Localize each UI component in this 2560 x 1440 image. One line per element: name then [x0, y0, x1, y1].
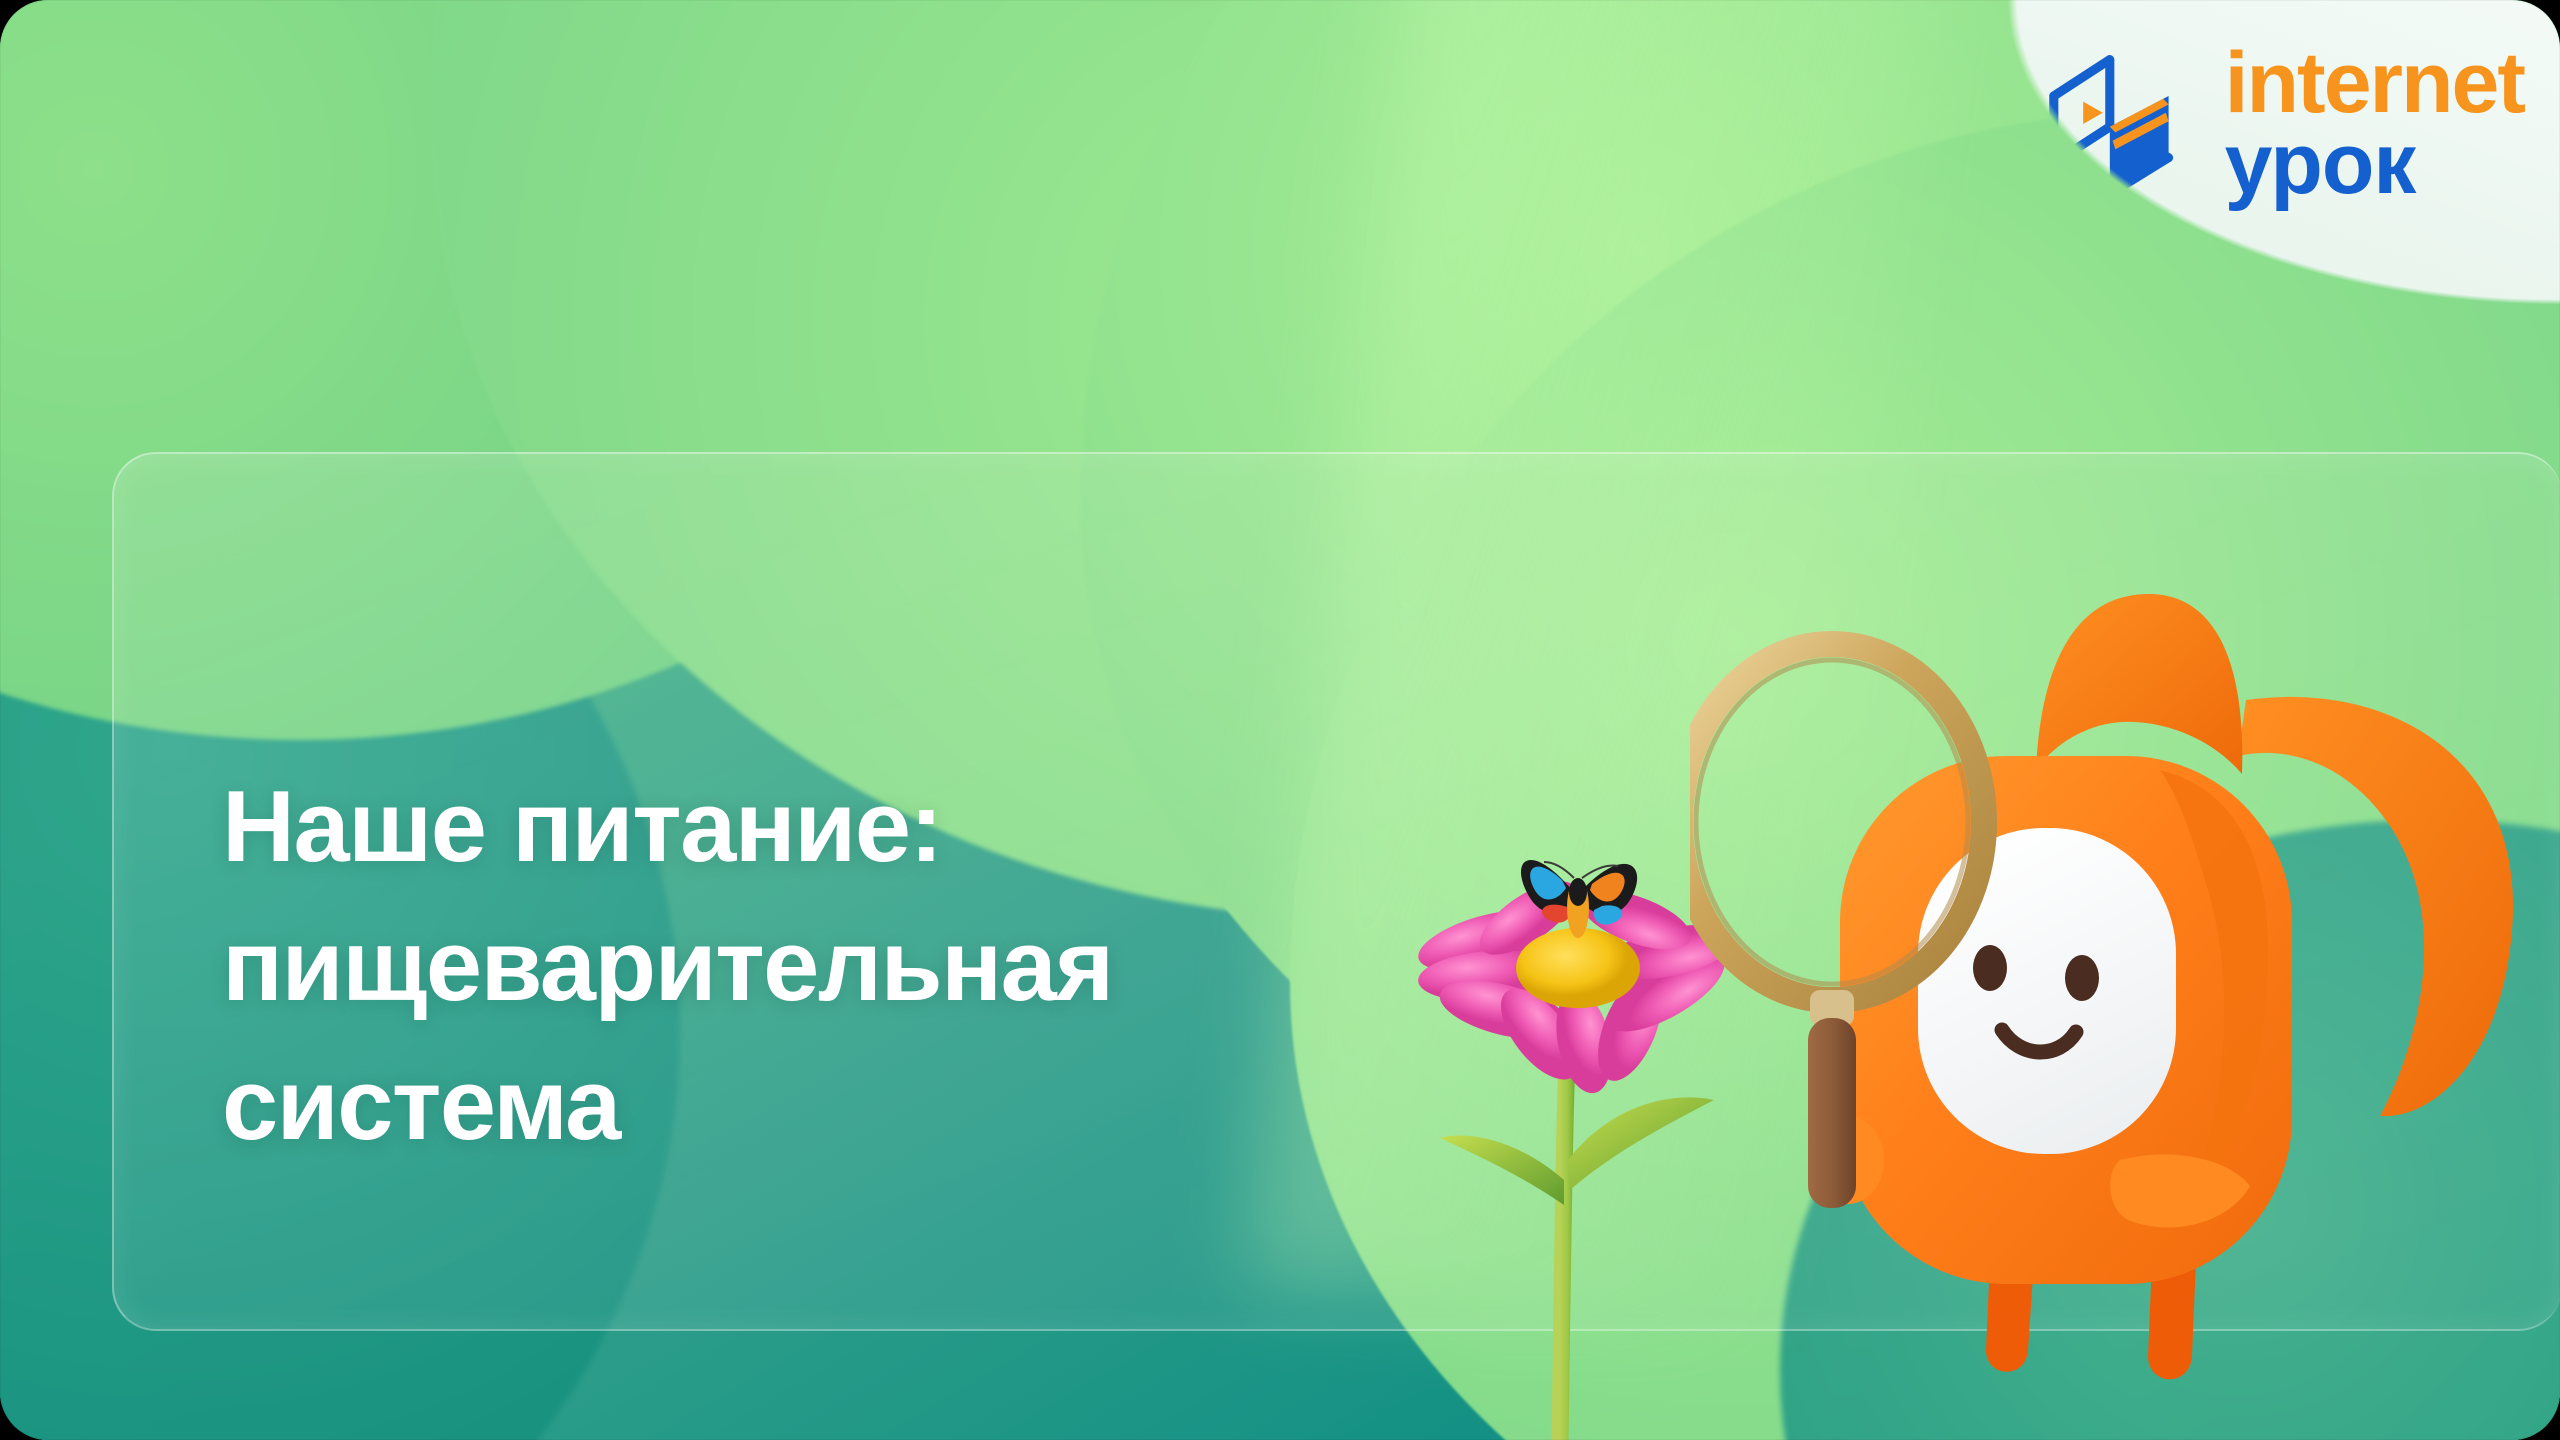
mascot-top-handle [2036, 594, 2242, 774]
slide-root: internet урок Наше питание: пищеваритель… [0, 0, 2560, 1440]
mascot-face [1918, 828, 2176, 1154]
title-line-1: Наше питание: [222, 758, 1402, 897]
mascot-eye-right [2065, 955, 2099, 1001]
title-line-3: система [222, 1036, 1402, 1175]
laptop-book-icon [2023, 40, 2191, 208]
page-title: Наше питание: пищеварительная система [222, 758, 1402, 1176]
flower-leaf-left [1440, 1135, 1564, 1205]
logo-badge: internet урок [1880, 0, 2560, 420]
logo-text-internet: internet [2225, 43, 2524, 124]
mascot-illustration [1690, 560, 2560, 1440]
logo-text-urok: урок [2225, 124, 2524, 205]
flower-center [1516, 928, 1640, 1008]
title-line-2: пищеварительная [222, 897, 1402, 1036]
mascot-eye-left [1973, 945, 2007, 991]
brand-logo[interactable]: internet урок [2023, 40, 2524, 208]
